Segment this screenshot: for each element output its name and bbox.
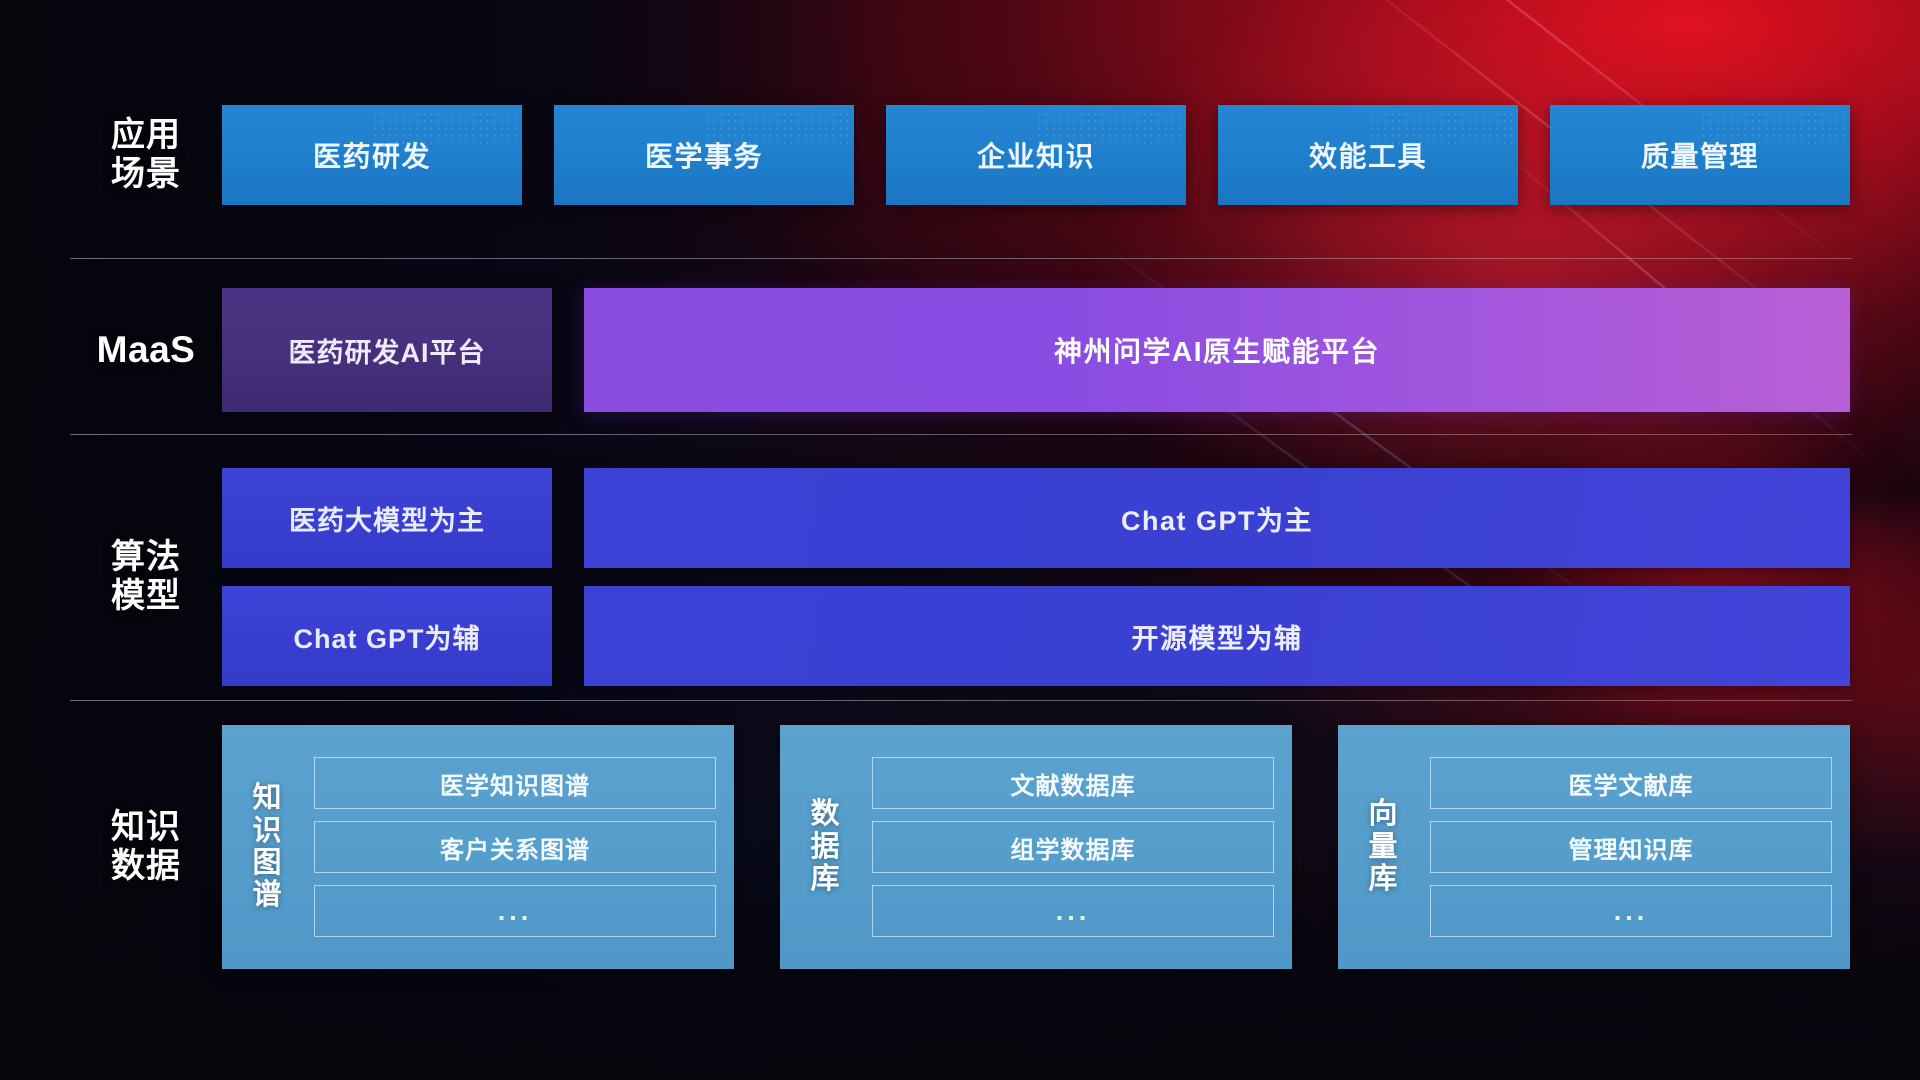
algorithm-card-chatgpt-secondary[interactable]: Chat GPT为辅 <box>222 586 552 686</box>
knowledge-item-list: 文献数据库 组学数据库 ... <box>872 739 1274 955</box>
vertical-label-char: 据 <box>810 831 839 863</box>
application-card-label: 医药研发 <box>313 135 431 175</box>
application-card-quality-management[interactable]: 质量管理 <box>1550 105 1850 205</box>
algorithm-stack: 医药大模型为主 Chat GPT为主 Chat GPT为辅 开源模型为辅 <box>222 468 1850 686</box>
algorithm-card-label: 医药大模型为主 <box>289 499 485 538</box>
divider-maas-algorithm <box>70 434 1852 435</box>
divider-algorithm-knowledge <box>70 700 1852 701</box>
knowledge-panel-knowledge-graph[interactable]: 知识图谱 医学知识图谱 客户关系图谱 ... <box>222 725 734 969</box>
algorithm-card-opensource-secondary[interactable]: 开源模型为辅 <box>584 586 1850 686</box>
row-label-applications: 应用 场景 <box>70 116 222 194</box>
knowledge-item-more[interactable]: ... <box>872 885 1274 937</box>
knowledge-item-more[interactable]: ... <box>1430 885 1832 937</box>
vertical-label-char: 库 <box>1368 863 1397 895</box>
application-card-efficiency-tools[interactable]: 效能工具 <box>1218 105 1518 205</box>
divider-applications-maas <box>70 258 1852 259</box>
vertical-label-char: 图 <box>252 847 281 879</box>
row-label-maas: MaaS <box>70 329 222 372</box>
knowledge-panel-vertical-label: 向量库 <box>1354 739 1412 955</box>
vertical-label-char: 向 <box>1368 798 1397 830</box>
knowledge-item-list: 医学文献库 管理知识库 ... <box>1430 739 1832 955</box>
application-card-medicine-rd[interactable]: 医药研发 <box>222 105 522 205</box>
knowledge-item-more[interactable]: ... <box>314 885 716 937</box>
algorithm-line-primary: 医药大模型为主 Chat GPT为主 <box>222 468 1850 568</box>
algorithm-card-label: Chat GPT为主 <box>1121 499 1313 538</box>
algorithm-card-chatgpt-primary[interactable]: Chat GPT为主 <box>584 468 1850 568</box>
row-algorithm-model: 算法 模型 医药大模型为主 Chat GPT为主 Chat GPT为辅 开源模型… <box>0 462 1920 692</box>
knowledge-panel-database[interactable]: 数据库 文献数据库 组学数据库 ... <box>780 725 1292 969</box>
knowledge-panel-vertical-label: 数据库 <box>796 739 854 955</box>
application-card-label: 效能工具 <box>1309 135 1427 175</box>
algorithm-card-label: 开源模型为辅 <box>1132 617 1303 656</box>
knowledge-panel-list: 知识图谱 医学知识图谱 客户关系图谱 ... 数据库 文献数据库 组学数据库 .… <box>222 725 1850 969</box>
row-application-scenarios: 应用 场景 医药研发 医学事务 企业知识 效能工具 质量管理 <box>0 96 1920 214</box>
vertical-label-char: 数 <box>810 798 839 830</box>
maas-card-label: 医药研发AI平台 <box>289 331 486 370</box>
algorithm-card-pharma-llm-primary[interactable]: 医药大模型为主 <box>222 468 552 568</box>
knowledge-item[interactable]: 医学文献库 <box>1430 757 1832 809</box>
application-card-enterprise-knowledge[interactable]: 企业知识 <box>886 105 1186 205</box>
architecture-diagram: 应用 场景 医药研发 医学事务 企业知识 效能工具 质量管理 MaaS 医药研发… <box>0 0 1920 1080</box>
maas-banner-label: 神州问学AI原生赋能平台 <box>1054 330 1380 370</box>
maas-banner-shenzhou-wenxue[interactable]: 神州问学AI原生赋能平台 <box>584 288 1850 412</box>
knowledge-item[interactable]: 文献数据库 <box>872 757 1274 809</box>
vertical-label-char: 谱 <box>252 879 281 911</box>
algorithm-card-label: Chat GPT为辅 <box>293 617 480 656</box>
application-card-list: 医药研发 医学事务 企业知识 效能工具 质量管理 <box>222 105 1850 205</box>
application-card-medical-affairs[interactable]: 医学事务 <box>554 105 854 205</box>
application-card-label: 企业知识 <box>977 135 1095 175</box>
algorithm-line-secondary: Chat GPT为辅 开源模型为辅 <box>222 586 1850 686</box>
application-card-label: 医学事务 <box>645 135 763 175</box>
row-knowledge-data: 知识 数据 知识图谱 医学知识图谱 客户关系图谱 ... 数据库 文献数据库 组… <box>0 718 1920 976</box>
vertical-label-char: 知 <box>252 782 281 814</box>
maas-card-pharma-ai-platform[interactable]: 医药研发AI平台 <box>222 288 552 412</box>
row-maas: MaaS 医药研发AI平台 神州问学AI原生赋能平台 <box>0 286 1920 414</box>
knowledge-item-list: 医学知识图谱 客户关系图谱 ... <box>314 739 716 955</box>
maas-body: 医药研发AI平台 神州问学AI原生赋能平台 <box>222 288 1850 412</box>
knowledge-item[interactable]: 客户关系图谱 <box>314 821 716 873</box>
row-label-algorithm: 算法 模型 <box>70 538 222 616</box>
knowledge-item[interactable]: 医学知识图谱 <box>314 757 716 809</box>
knowledge-item[interactable]: 组学数据库 <box>872 821 1274 873</box>
vertical-label-char: 量 <box>1368 831 1397 863</box>
row-label-knowledge: 知识 数据 <box>70 808 222 886</box>
knowledge-panel-vector-store[interactable]: 向量库 医学文献库 管理知识库 ... <box>1338 725 1850 969</box>
application-card-label: 质量管理 <box>1641 135 1759 175</box>
vertical-label-char: 识 <box>252 815 281 847</box>
knowledge-item[interactable]: 管理知识库 <box>1430 821 1832 873</box>
vertical-label-char: 库 <box>810 863 839 895</box>
knowledge-panel-vertical-label: 知识图谱 <box>238 739 296 955</box>
